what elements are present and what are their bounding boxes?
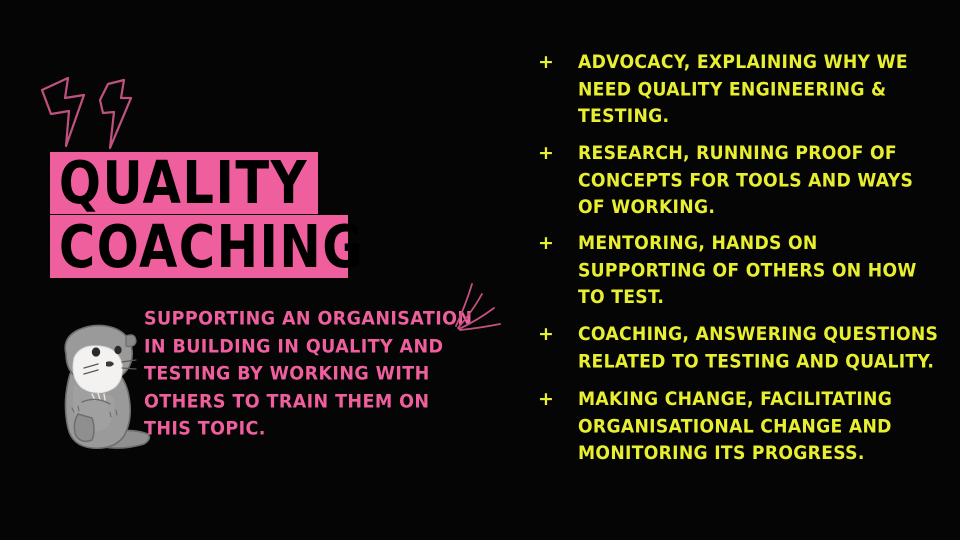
- list-item-label: Advocacy, explaining why we need quality…: [578, 50, 944, 131]
- list-item-label: Mentoring, hands on supporting of others…: [578, 231, 944, 312]
- plus-icon: +: [532, 322, 578, 347]
- bullet-list: + Advocacy, explaining why we need quali…: [532, 50, 944, 477]
- title-band-quality: QUALITY: [50, 152, 318, 214]
- plus-icon: +: [532, 141, 578, 166]
- sparkle-lines-icon: [452, 282, 506, 334]
- plus-icon: +: [532, 50, 578, 75]
- title-band-coaching: COACHING: [50, 215, 348, 278]
- slide-canvas: QUALITY COACHING: [0, 0, 960, 540]
- plus-icon: +: [532, 231, 578, 256]
- page-title-line1: QUALITY: [50, 154, 308, 213]
- list-item: + Mentoring, hands on supporting of othe…: [532, 231, 944, 308]
- list-item: + Making change, facilitating organisati…: [532, 387, 944, 464]
- list-item: + Coaching, answering questions related …: [532, 322, 944, 373]
- subtitle-text: Supporting an organisation in building i…: [144, 306, 474, 444]
- list-item: + Research, running proof of concepts fo…: [532, 141, 944, 218]
- lightning-bolt-icon: [32, 68, 146, 152]
- list-item-label: Coaching, answering questions related to…: [578, 322, 944, 376]
- list-item: + Advocacy, explaining why we need quali…: [532, 50, 944, 127]
- list-item-label: Making change, facilitating organisation…: [578, 387, 944, 468]
- plus-icon: +: [532, 387, 578, 412]
- page-title-line2: COACHING: [50, 217, 364, 276]
- list-item-label: Research, running proof of concepts for …: [578, 141, 944, 222]
